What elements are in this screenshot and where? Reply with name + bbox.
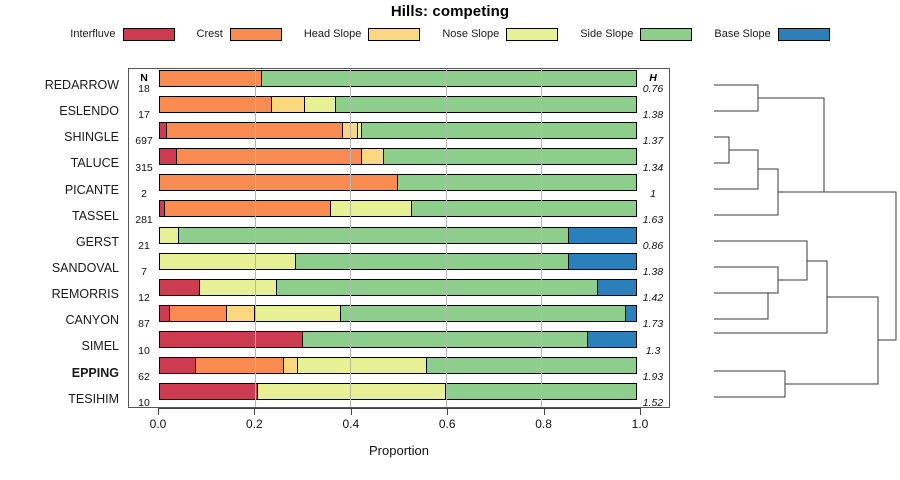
bar-segment[interactable] bbox=[384, 149, 636, 164]
color-swatch-icon bbox=[640, 28, 692, 41]
bar-segment[interactable] bbox=[165, 201, 332, 216]
legend-item-label: Head Slope bbox=[304, 28, 369, 40]
n-value: 7 bbox=[129, 266, 159, 278]
bar-segment[interactable] bbox=[160, 280, 200, 295]
bar-segment[interactable] bbox=[160, 123, 167, 138]
h-value: 1.3 bbox=[637, 345, 669, 357]
bar-row bbox=[159, 148, 637, 165]
stacked-bar[interactable] bbox=[159, 122, 637, 139]
h-value: 1.63 bbox=[637, 214, 669, 226]
n-value: 62 bbox=[129, 371, 159, 383]
n-value: 2 bbox=[129, 188, 159, 200]
bar-segment[interactable] bbox=[160, 306, 170, 321]
category-label: TASSEL bbox=[0, 203, 126, 229]
category-label: TESIHIM bbox=[0, 386, 126, 412]
bar-segment[interactable] bbox=[272, 97, 305, 112]
category-label: EPPING bbox=[0, 360, 126, 386]
bar-segment[interactable] bbox=[196, 358, 284, 373]
gridline bbox=[541, 69, 542, 407]
stacked-bar[interactable] bbox=[159, 200, 637, 217]
category-label: REDARROW bbox=[0, 72, 126, 98]
bar-row bbox=[159, 70, 637, 87]
bar-segment[interactable] bbox=[170, 306, 227, 321]
bar-segment[interactable] bbox=[598, 280, 636, 295]
bar-segment[interactable] bbox=[160, 254, 296, 269]
bar-segment[interactable] bbox=[277, 280, 598, 295]
category-label: PICANTE bbox=[0, 177, 126, 203]
bar-segment[interactable] bbox=[179, 228, 569, 243]
category-label: TALUCE bbox=[0, 150, 126, 176]
h-value: 0.76 bbox=[637, 83, 669, 95]
bar-segment[interactable] bbox=[341, 306, 627, 321]
bar-segment[interactable] bbox=[160, 149, 177, 164]
legend-item-label: Nose Slope bbox=[442, 28, 506, 40]
chart-title: Hills: competing bbox=[0, 3, 900, 20]
bar-segment[interactable] bbox=[160, 71, 262, 86]
category-label: REMORRIS bbox=[0, 281, 126, 307]
x-axis-tick-label: 0.8 bbox=[535, 417, 552, 431]
category-label: CANYON bbox=[0, 307, 126, 333]
color-swatch-icon bbox=[123, 28, 175, 41]
bar-segment[interactable] bbox=[160, 332, 303, 347]
stacked-bar[interactable] bbox=[159, 227, 637, 244]
gridline bbox=[255, 69, 256, 407]
bar-segment[interactable] bbox=[362, 123, 636, 138]
x-axis-tick bbox=[158, 408, 159, 415]
n-value: 10 bbox=[129, 345, 159, 357]
bar-segment[interactable] bbox=[588, 332, 636, 347]
stacked-bars bbox=[159, 69, 637, 407]
bar-segment[interactable] bbox=[177, 149, 363, 164]
category-label: SHINGLE bbox=[0, 124, 126, 150]
legend-item[interactable]: Interfluve bbox=[70, 28, 196, 41]
bar-segment[interactable] bbox=[569, 228, 636, 243]
bar-segment[interactable] bbox=[160, 228, 179, 243]
legend-item-label: Interfluve bbox=[70, 28, 122, 40]
color-swatch-icon bbox=[778, 28, 830, 41]
x-axis-tick bbox=[544, 408, 545, 415]
gridline bbox=[350, 69, 351, 407]
x-axis-tick-label: 0.6 bbox=[439, 417, 456, 431]
h-value: 1.93 bbox=[637, 371, 669, 383]
bar-row bbox=[159, 200, 637, 217]
n-value: 10 bbox=[129, 397, 159, 409]
h-value: 1.34 bbox=[637, 162, 669, 174]
legend-item[interactable]: Side Slope bbox=[580, 28, 714, 41]
legend: InterfluveCrestHead SlopeNose SlopeSide … bbox=[0, 25, 900, 43]
bar-segment[interactable] bbox=[160, 175, 398, 190]
dendrogram bbox=[672, 68, 898, 408]
n-value: 21 bbox=[129, 240, 159, 252]
x-axis-tick-label: 0.0 bbox=[150, 417, 167, 431]
n-value: 18 bbox=[129, 83, 159, 95]
color-swatch-icon bbox=[506, 28, 558, 41]
x-axis-tick-label: 0.2 bbox=[246, 417, 263, 431]
legend-item[interactable]: Head Slope bbox=[304, 28, 443, 41]
legend-item-label: Base Slope bbox=[714, 28, 777, 40]
h-value: 1.52 bbox=[637, 397, 669, 409]
n-value: 17 bbox=[129, 109, 159, 121]
n-value: 697 bbox=[129, 135, 159, 147]
dendrogram-svg bbox=[672, 68, 898, 408]
category-label: SANDOVAL bbox=[0, 255, 126, 281]
bar-segment[interactable] bbox=[284, 358, 298, 373]
bar-segment[interactable] bbox=[262, 71, 636, 86]
stacked-bar[interactable] bbox=[159, 331, 637, 348]
bar-row bbox=[159, 279, 637, 296]
category-label-column: REDARROWESLENDOSHINGLETALUCEPICANTETASSE… bbox=[0, 72, 126, 412]
bar-segment[interactable] bbox=[398, 175, 636, 190]
x-axis-tick-label: 0.4 bbox=[342, 417, 359, 431]
x-axis-tick bbox=[640, 408, 641, 415]
stacked-bar[interactable] bbox=[159, 148, 637, 165]
stacked-bar[interactable] bbox=[159, 70, 637, 87]
bar-row bbox=[159, 253, 637, 270]
stacked-bar[interactable] bbox=[159, 96, 637, 113]
bar-segment[interactable] bbox=[569, 254, 636, 269]
h-value: 0.86 bbox=[637, 240, 669, 252]
plot-panel: N 181769731522812171287106210 H 0.761.38… bbox=[128, 68, 670, 408]
legend-item[interactable]: Nose Slope bbox=[442, 28, 580, 41]
bar-segment[interactable] bbox=[258, 384, 446, 399]
legend-item-label: Side Slope bbox=[580, 28, 640, 40]
bar-segment[interactable] bbox=[626, 306, 636, 321]
h-value: 1.37 bbox=[637, 135, 669, 147]
bar-row bbox=[159, 331, 637, 348]
stacked-bar[interactable] bbox=[159, 279, 637, 296]
stacked-bar[interactable] bbox=[159, 357, 637, 374]
bar-segment[interactable] bbox=[227, 306, 256, 321]
bar-segment[interactable] bbox=[296, 254, 570, 269]
bar-segment[interactable] bbox=[298, 358, 427, 373]
bar-row bbox=[159, 96, 637, 113]
bar-row bbox=[159, 122, 637, 139]
n-value: 281 bbox=[129, 214, 159, 226]
bar-segment[interactable] bbox=[200, 280, 276, 295]
legend-item[interactable]: Crest bbox=[197, 28, 304, 41]
n-value: 315 bbox=[129, 162, 159, 174]
n-value: 87 bbox=[129, 318, 159, 330]
bar-row bbox=[159, 174, 637, 191]
x-axis-tick bbox=[351, 408, 352, 415]
x-axis: 0.00.20.40.60.81.0 bbox=[158, 408, 640, 416]
h-value: 1.38 bbox=[637, 266, 669, 278]
bar-row bbox=[159, 357, 637, 374]
h-value: 1.73 bbox=[637, 318, 669, 330]
legend-item-label: Crest bbox=[197, 28, 230, 40]
n-column: N 181769731522812171287106210 bbox=[129, 69, 159, 407]
x-axis-tick-label: 1.0 bbox=[632, 417, 649, 431]
x-axis-tick bbox=[254, 408, 255, 415]
color-swatch-icon bbox=[230, 28, 282, 41]
x-axis-line bbox=[158, 408, 640, 409]
category-label: SIMEL bbox=[0, 333, 126, 359]
bar-segment[interactable] bbox=[331, 201, 412, 216]
h-value: 1 bbox=[637, 188, 669, 200]
stacked-bar[interactable] bbox=[159, 305, 637, 322]
bar-row bbox=[159, 227, 637, 244]
legend-item[interactable]: Base Slope bbox=[714, 28, 829, 41]
x-axis-tick bbox=[447, 408, 448, 415]
bar-segment[interactable] bbox=[160, 358, 196, 373]
color-swatch-icon bbox=[368, 28, 420, 41]
bar-row bbox=[159, 383, 637, 400]
bar-segment[interactable] bbox=[255, 306, 341, 321]
gridline bbox=[446, 69, 447, 407]
h-value: 1.38 bbox=[637, 109, 669, 121]
n-value: 12 bbox=[129, 292, 159, 304]
bar-segment[interactable] bbox=[427, 358, 636, 373]
bar-segment[interactable] bbox=[362, 149, 383, 164]
category-label: ESLENDO bbox=[0, 98, 126, 124]
stacked-bar[interactable] bbox=[159, 253, 637, 270]
chart-root: Hills: competing InterfluveCrestHead Slo… bbox=[0, 0, 900, 480]
stacked-bar[interactable] bbox=[159, 383, 637, 400]
bar-row bbox=[159, 305, 637, 322]
stacked-bar[interactable] bbox=[159, 174, 637, 191]
category-label: GERST bbox=[0, 229, 126, 255]
bar-segment[interactable] bbox=[305, 97, 336, 112]
x-axis-label: Proportion bbox=[158, 443, 640, 458]
h-value: 1.42 bbox=[637, 292, 669, 304]
h-column: H 0.761.381.371.3411.630.861.381.421.731… bbox=[637, 69, 669, 407]
bar-segment[interactable] bbox=[336, 97, 636, 112]
bar-segment[interactable] bbox=[160, 384, 258, 399]
